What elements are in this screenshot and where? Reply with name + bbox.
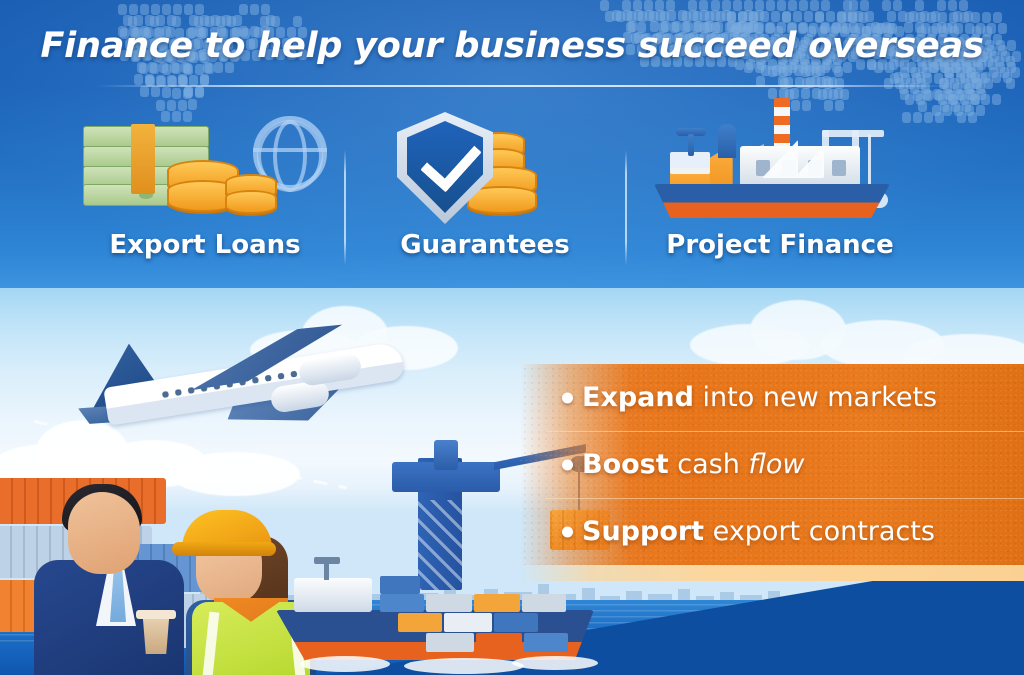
- page-title: Finance to help your business succeed ov…: [0, 26, 1024, 66]
- benefit-emphasis: flow: [748, 449, 804, 480]
- headline-divider: [96, 85, 952, 87]
- feature-divider-1: [344, 150, 346, 265]
- benefits-panel-foot: [520, 565, 1024, 581]
- feature-label: Project Finance: [640, 230, 920, 260]
- benefit-rest: cash: [669, 449, 749, 480]
- feature-export-loans[interactable]: Export Loans: [65, 104, 345, 284]
- feature-guarantees[interactable]: Guarantees: [345, 104, 625, 284]
- benefit-text: Expand into new markets: [582, 382, 937, 413]
- benefit-lead: Boost: [582, 449, 669, 480]
- benefit-rest: into new markets: [694, 382, 937, 413]
- bullet-dot: [562, 459, 573, 470]
- bullet-dot: [562, 392, 573, 403]
- marketing-poster: Finance to help your business succeed ov…: [0, 0, 1024, 675]
- benefit-lead: Expand: [582, 382, 694, 413]
- benefit-rest: export contracts: [704, 516, 935, 547]
- benefit-row[interactable]: Boost cash flow: [520, 431, 1024, 498]
- benefits-panel: Expand into new markets Boost cash flow …: [520, 364, 1024, 565]
- feature-project-finance[interactable]: Project Finance: [640, 104, 920, 284]
- benefit-text: Support export contracts: [582, 516, 935, 547]
- coffee-cup-lid: [136, 610, 176, 619]
- cargo-ship-crane-icon: [640, 104, 920, 229]
- top-banner: Finance to help your business succeed ov…: [0, 0, 1024, 288]
- benefit-row[interactable]: Expand into new markets: [520, 364, 1024, 431]
- feature-row: Export Loans Guarantees: [0, 104, 1024, 284]
- feature-label: Export Loans: [65, 230, 345, 260]
- shield-check-coins-icon: [345, 104, 625, 229]
- cash-coins-globe-icon: [65, 104, 345, 229]
- benefit-row[interactable]: Support export contracts: [520, 498, 1024, 565]
- feature-divider-2: [625, 150, 627, 265]
- benefit-text: Boost cash flow: [582, 449, 804, 480]
- bullet-dot: [562, 526, 573, 537]
- benefit-lead: Support: [582, 516, 704, 547]
- feature-label: Guarantees: [345, 230, 625, 260]
